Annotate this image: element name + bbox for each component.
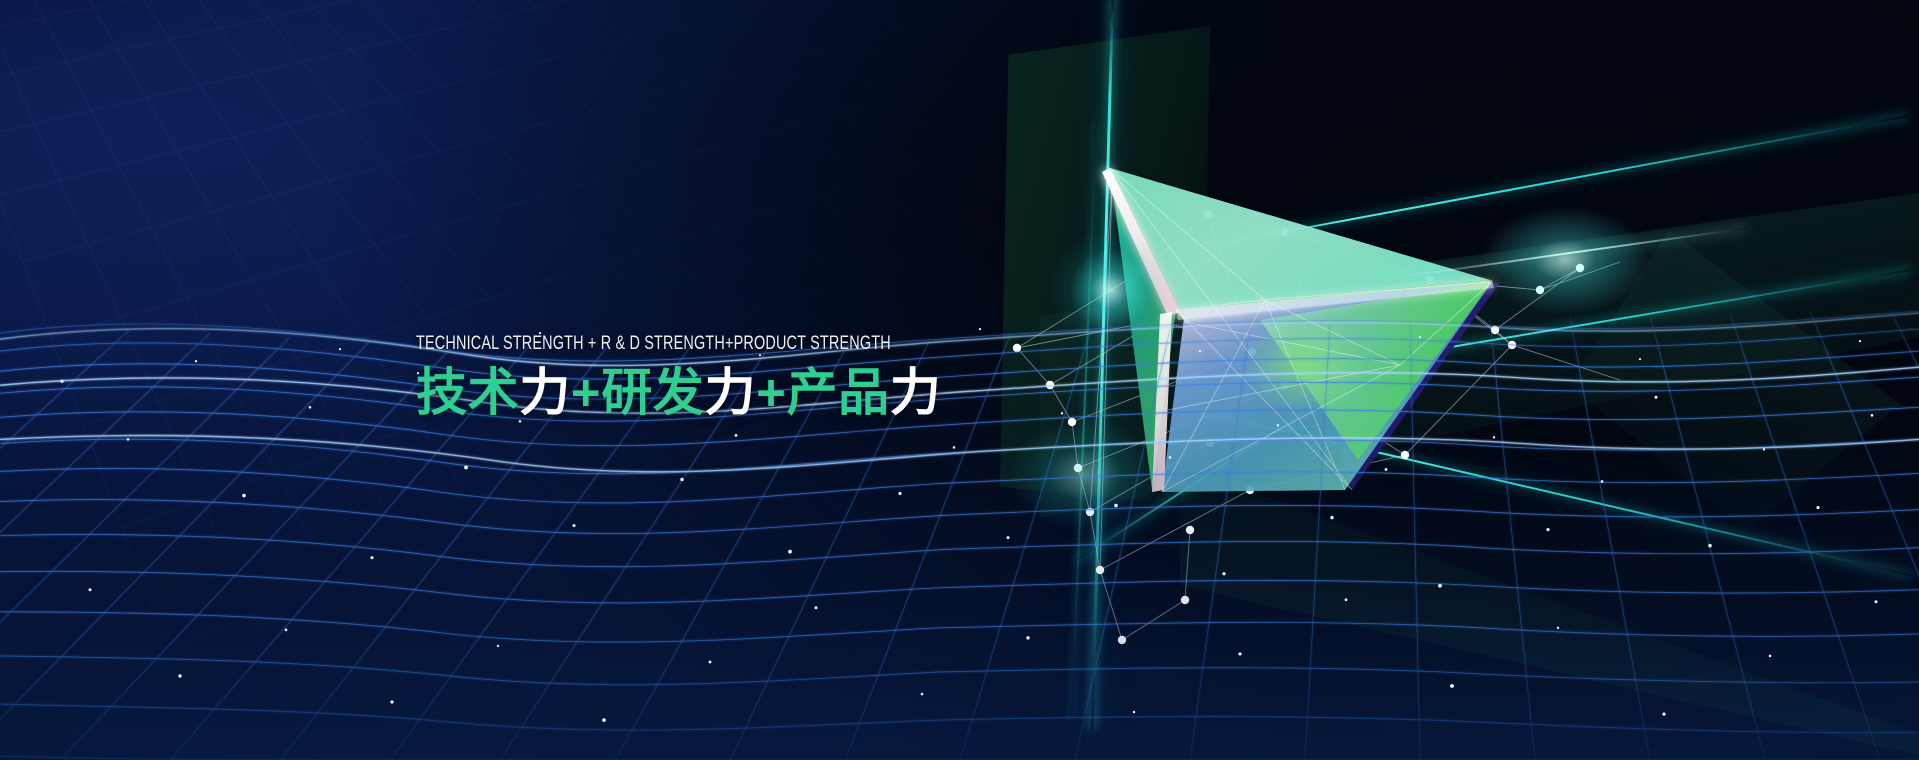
headline-seg-0: 技术 <box>416 364 519 421</box>
headline-seg-3: 研发 <box>601 364 704 421</box>
eyebrow-text: TECHNICAL STRENGTH + R & D STRENGTH+PROD… <box>416 332 890 355</box>
headline-seg-5: + <box>756 364 786 421</box>
headline-seg-1: 力 <box>519 364 571 421</box>
headline-seg-6: 产品 <box>787 364 890 421</box>
headline-seg-7: 力 <box>890 364 942 421</box>
headline-seg-2: + <box>571 364 601 421</box>
headline-text: 技术力+研发力+产品力 <box>416 364 1056 421</box>
headline-seg-4: 力 <box>705 364 757 421</box>
hero-banner: TECHNICAL STRENGTH + R & D STRENGTH+PROD… <box>0 0 1919 760</box>
hero-copy: TECHNICAL STRENGTH + R & D STRENGTH+PROD… <box>416 332 1056 421</box>
